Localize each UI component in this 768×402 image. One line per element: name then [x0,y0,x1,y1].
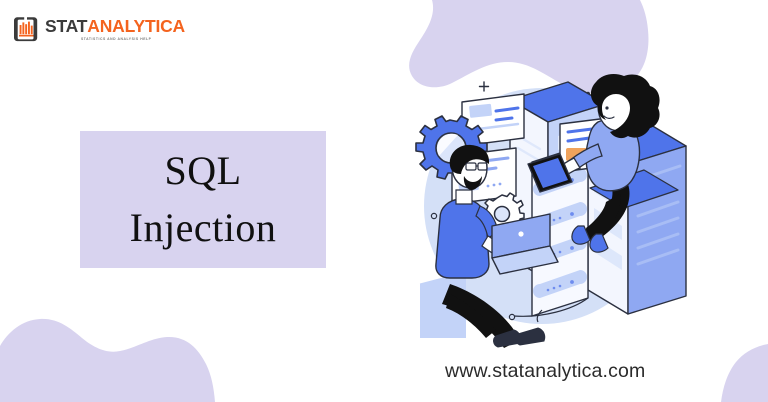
sparkle-icon [480,82,489,91]
brand-wordmark: STATANALYTICA STATISTICS AND ANALYSIS HE… [45,18,185,41]
brand-name-analytica: ANALYTICA [87,18,185,36]
page-title-line-1: SQL [164,143,241,200]
brand-name-stat: STAT [45,18,87,36]
bottom-left-blob [0,319,215,402]
sql-injection-server-illustration [392,66,708,350]
bottom-right-blob [721,344,768,402]
title-card: SQL Injection [80,131,326,268]
brand-tagline: STATISTICS AND ANALYSIS HELP [81,38,185,42]
brand-name: STATANALYTICA [45,18,185,36]
bar-chart-in-frame-icon [14,16,39,43]
brand-logo[interactable]: STATANALYTICA STATISTICS AND ANALYSIS HE… [14,16,185,43]
site-url[interactable]: www.statanalytica.com [445,360,645,383]
page-title-line-2: Injection [130,200,277,257]
banner-page: STATANALYTICA STATISTICS AND ANALYSIS HE… [0,0,768,402]
